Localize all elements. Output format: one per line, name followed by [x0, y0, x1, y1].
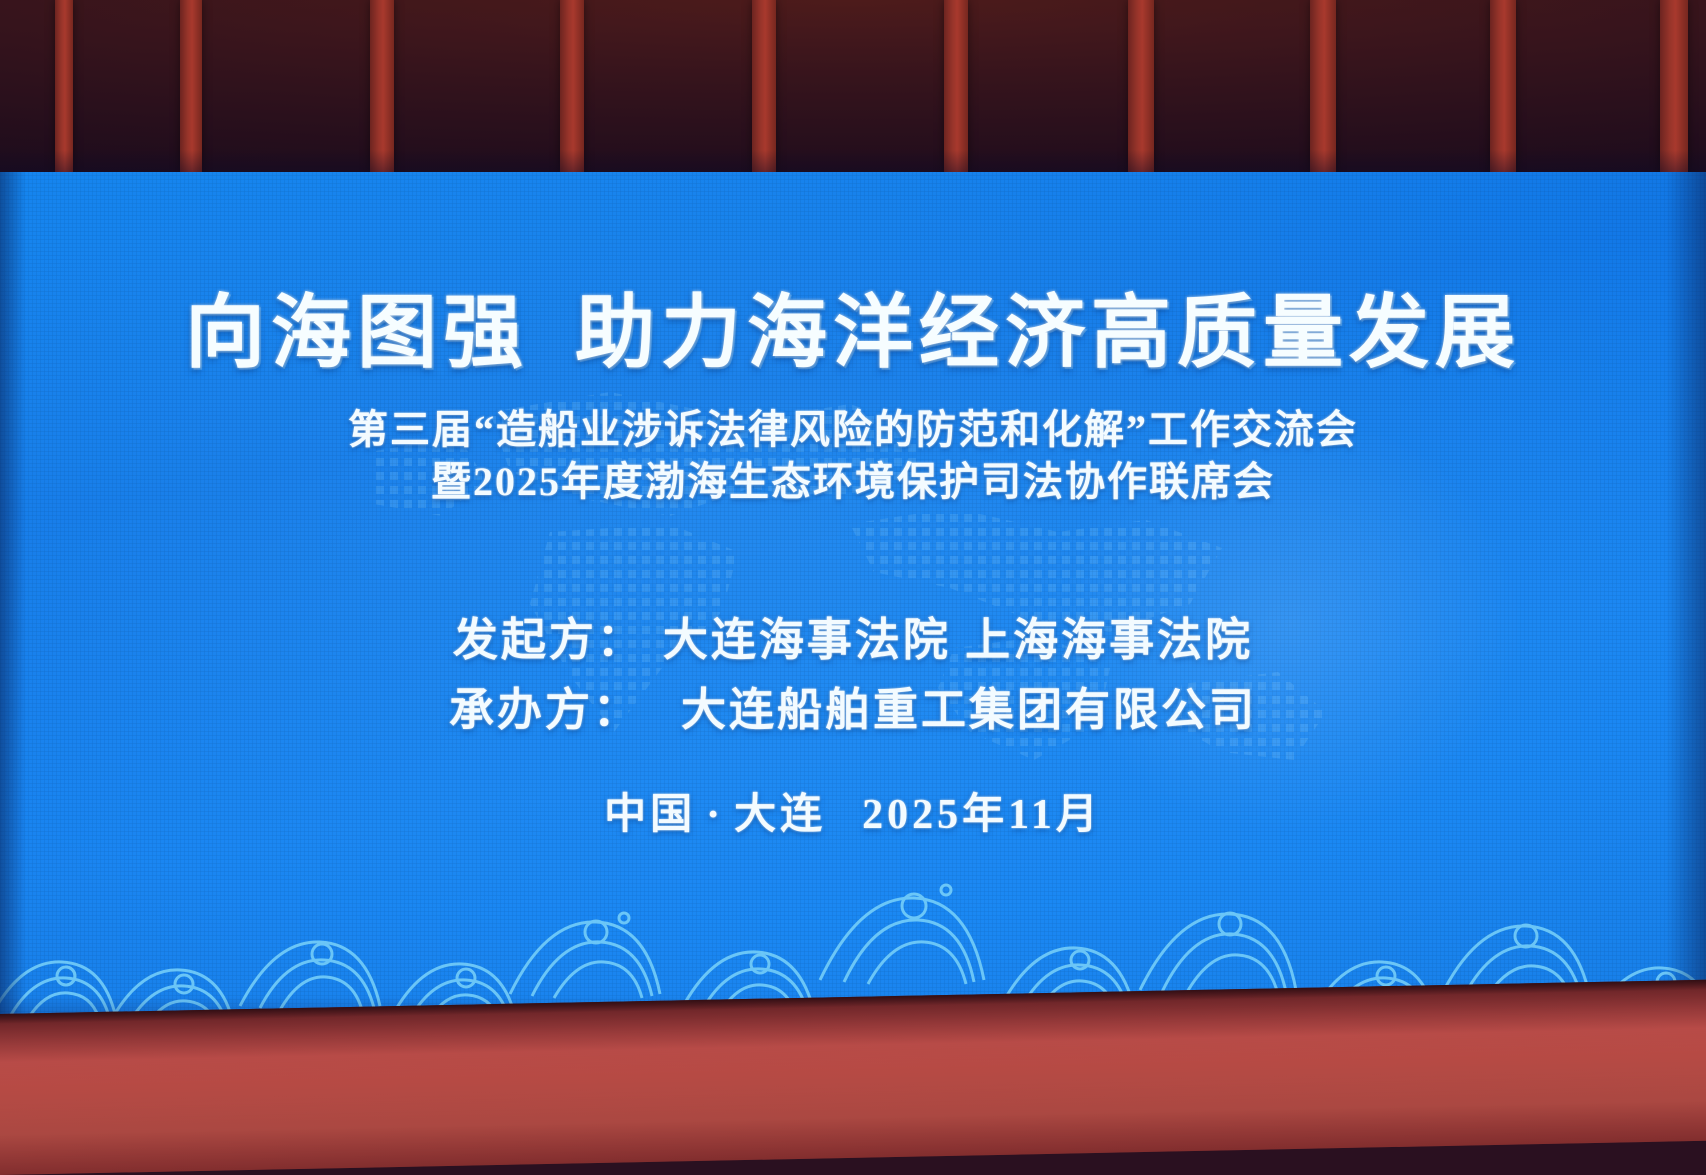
organizer-initiator-value: 大连海事法院 上海海事法院: [663, 615, 1253, 665]
stage-shading: [0, 980, 1706, 1175]
screen-left-shading: [0, 172, 26, 1032]
organizer-initiator-label: 发起方：: [453, 618, 645, 663]
screen-right-shading: [1666, 172, 1706, 1032]
footer-country: 中国: [604, 792, 696, 838]
banner-title-part1: 向海图强: [185, 290, 529, 378]
led-backdrop-screen: 向海图强助力海洋经济高质量发展 第三届“造船业涉诉法律风险的防范和化解”工作交流…: [0, 172, 1706, 1032]
stage-front-panel: [0, 980, 1706, 1175]
footer-date: 2025年11月: [862, 792, 1102, 838]
conference-photo-scene: 向海图强助力海洋经济高质量发展 第三届“造船业涉诉法律风险的防范和化解”工作交流…: [0, 0, 1706, 1175]
banner-footer-row: 中国·大连2025年11月: [0, 794, 1706, 836]
organizer-host-label: 承办方：: [449, 688, 641, 733]
banner-text-block: 向海图强助力海洋经济高质量发展 第三届“造船业涉诉法律风险的防范和化解”工作交流…: [0, 172, 1706, 1032]
banner-subtitle-line1: 第三届“造船业涉诉法律风险的防范和化解”工作交流会: [0, 410, 1706, 450]
organizer-initiator-row: 发起方：大连海事法院 上海海事法院: [0, 618, 1706, 663]
organizer-host-value: 大连船舶重工集团有限公司: [681, 685, 1257, 735]
banner-subtitle-line2: 暨2025年度渤海生态环境保护司法协作联席会: [0, 462, 1706, 502]
banner-title-part2: 助力海洋经济高质量发展: [575, 290, 1521, 378]
footer-city: 大连: [734, 792, 826, 838]
hall-ceiling: [0, 0, 1706, 200]
footer-separator: ·: [696, 794, 734, 836]
banner-title: 向海图强助力海洋经济高质量发展: [0, 294, 1706, 374]
organizer-host-row: 承办方：大连船舶重工集团有限公司: [0, 688, 1706, 733]
